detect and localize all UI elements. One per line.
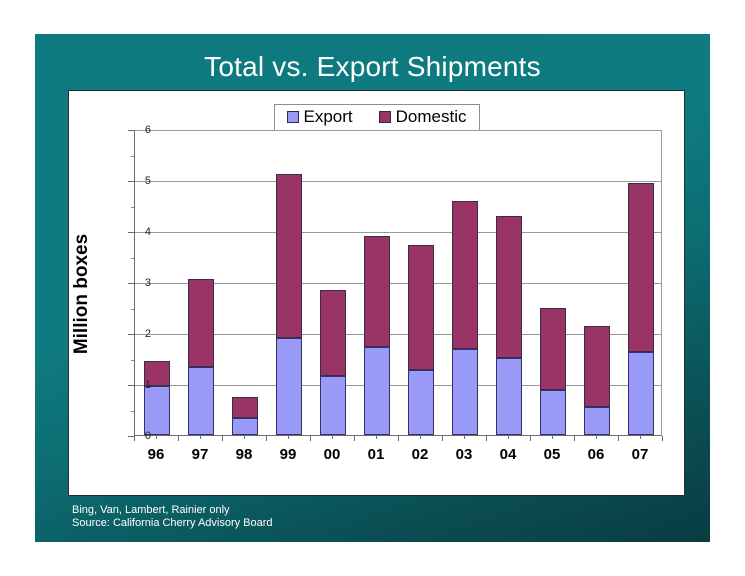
x-axis-tick-label: 06 [588,446,605,463]
bar-group[interactable] [628,129,654,435]
bar-segment-domestic[interactable] [408,245,434,370]
x-axis-tick-label: 01 [368,446,385,463]
bar-group[interactable] [364,129,390,435]
x-axis-tick-mark [178,436,179,441]
plot-wrapper: Million boxes 01234569697989900010203040… [69,91,686,497]
x-axis-tick-mark [530,436,531,441]
x-axis-tick-mark [442,436,443,441]
y-axis-minor-tick [131,207,134,208]
x-axis-minor-tick [508,436,509,439]
bar-segment-domestic[interactable] [320,290,346,377]
x-axis-minor-tick [376,436,377,439]
plot-area [134,130,662,436]
y-axis-tick-mark [128,232,134,233]
x-axis-tick-mark [662,436,663,441]
x-axis-tick-mark [398,436,399,441]
y-axis-tick-label: 3 [133,277,151,289]
bar-segment-domestic[interactable] [188,279,214,367]
y-axis-tick-label: 6 [133,124,151,136]
bar-segment-export[interactable] [188,367,214,435]
bar-segment-domestic[interactable] [584,326,610,407]
x-axis-tick-mark [618,436,619,441]
slide: Total vs. Export Shipments ExportDomesti… [35,34,710,542]
bar-segment-domestic[interactable] [232,397,258,418]
bar-group[interactable] [188,129,214,435]
x-axis-minor-tick [420,436,421,439]
y-axis-tick-mark [128,334,134,335]
y-axis-tick-mark [128,283,134,284]
bar-segment-export[interactable] [276,338,302,435]
x-axis-minor-tick [640,436,641,439]
y-axis-tick-mark [128,130,134,131]
y-axis-tick-label: 4 [133,226,151,238]
x-axis-tick-label: 02 [412,446,429,463]
bar-group[interactable] [452,129,478,435]
bar-segment-export[interactable] [408,370,434,435]
bar-segment-export[interactable] [320,376,346,435]
y-axis-tick-mark [128,385,134,386]
x-axis-minor-tick [552,436,553,439]
x-axis-tick-label: 05 [544,446,561,463]
x-axis-tick-mark [222,436,223,441]
footer-line-2: Source: California Cherry Advisory Board [72,517,273,530]
footer-note: Bing, Van, Lambert, Rainier only Source:… [72,504,273,530]
x-axis-minor-tick [156,436,157,439]
x-axis-tick-label: 99 [280,446,297,463]
bar-segment-domestic[interactable] [628,183,654,353]
page-title: Total vs. Export Shipments [35,50,710,84]
y-axis-minor-tick [131,156,134,157]
bar-segment-export[interactable] [584,407,610,435]
bar-group[interactable] [584,129,610,435]
x-axis-tick-mark [486,436,487,441]
bar-segment-export[interactable] [496,358,522,435]
x-axis-tick-label: 00 [324,446,341,463]
bar-segment-domestic[interactable] [452,201,478,349]
x-axis-tick-mark [266,436,267,441]
y-axis-tick-mark [128,181,134,182]
bar-segment-domestic[interactable] [276,174,302,338]
footer-line-1: Bing, Van, Lambert, Rainier only [72,504,273,517]
bar-group[interactable] [408,129,434,435]
x-axis-tick-mark [134,436,135,441]
x-axis-minor-tick [288,436,289,439]
x-axis-tick-label: 04 [500,446,517,463]
bar-group[interactable] [320,129,346,435]
bar-segment-domestic[interactable] [364,236,390,347]
bar-segment-export[interactable] [628,352,654,435]
x-axis-minor-tick [596,436,597,439]
x-axis-minor-tick [244,436,245,439]
x-axis-tick-mark [574,436,575,441]
bar-group[interactable] [496,129,522,435]
y-axis-title: Million boxes [71,234,93,354]
x-axis-minor-tick [332,436,333,439]
x-axis-minor-tick [464,436,465,439]
y-axis-tick-label: 0 [133,430,151,442]
bar-segment-domestic[interactable] [496,216,522,358]
bar-group[interactable] [232,129,258,435]
bar-segment-export[interactable] [364,347,390,435]
bar-segment-export[interactable] [540,390,566,435]
bar-segment-export[interactable] [452,349,478,435]
x-axis-tick-label: 96 [148,446,165,463]
y-axis-minor-tick [131,360,134,361]
x-axis-tick-label: 98 [236,446,253,463]
y-axis-minor-tick [131,258,134,259]
chart-panel: ExportDomestic Million boxes 01234569697… [68,90,685,496]
x-axis-tick-label: 07 [632,446,649,463]
x-axis-tick-mark [310,436,311,441]
y-axis-tick-label: 1 [133,379,151,391]
x-axis-minor-tick [200,436,201,439]
bar-segment-domestic[interactable] [540,308,566,390]
x-axis-tick-label: 03 [456,446,473,463]
y-axis-tick-label: 5 [133,175,151,187]
bar-group[interactable] [540,129,566,435]
bar-segment-export[interactable] [232,418,258,435]
bar-group[interactable] [276,129,302,435]
y-axis-tick-label: 2 [133,328,151,340]
bar-segment-export[interactable] [144,386,170,435]
y-axis-minor-tick [131,411,134,412]
x-axis-tick-mark [354,436,355,441]
x-axis-tick-label: 97 [192,446,209,463]
y-axis-minor-tick [131,309,134,310]
